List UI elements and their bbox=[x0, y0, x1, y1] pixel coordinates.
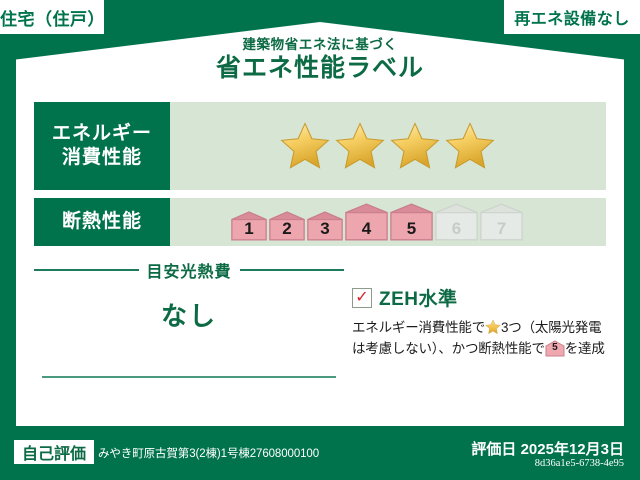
insulation-performance-body: 1234567 bbox=[170, 198, 606, 246]
badge-renewable-energy: 再エネ設備なし bbox=[504, 0, 640, 34]
insulation-grade-3: 3 bbox=[306, 210, 344, 242]
zeh-desc-part1: エネルギー消費性能で bbox=[352, 320, 485, 335]
utility-cost-header: 目安光熱費 bbox=[34, 258, 344, 282]
footer: 自己評価 みやき町原古賀第3(2棟)1号棟27608000100 評価日 202… bbox=[0, 424, 640, 480]
insulation-grade-4: 4 bbox=[344, 202, 389, 242]
zeh-desc-part2: は考慮しない）、かつ断熱性能で bbox=[352, 341, 545, 356]
star-rating bbox=[280, 121, 495, 171]
evaluation-date-label: 評価日 bbox=[471, 441, 516, 458]
zeh-desc-stars: 3つ（太陽光発電 bbox=[501, 320, 601, 335]
insulation-grade-value: 5 bbox=[389, 219, 434, 239]
insulation-grade-value: 7 bbox=[479, 219, 524, 239]
energy-label-poster: 住宅（住戸） 再エネ設備なし 建築物省エネ法に基づく 省エネ性能ラベル エネルギ… bbox=[0, 0, 640, 480]
insulation-performance-row: 断熱性能 1234567 bbox=[34, 198, 606, 246]
energy-label-line2: 消費性能 bbox=[62, 146, 142, 170]
energy-performance-body bbox=[170, 102, 606, 190]
title-subtitle: 建築物省エネ法に基づく bbox=[0, 38, 640, 52]
utility-cost-value: なし bbox=[34, 296, 344, 333]
label-panel: エネルギー 消費性能 断熱性能 1234567 目安光熱費 なし bbox=[16, 88, 624, 424]
zeh-checkbox[interactable]: ✓ bbox=[352, 288, 372, 308]
insulation-grade-value: 3 bbox=[306, 219, 344, 239]
title-block: 建築物省エネ法に基づく 省エネ性能ラベル bbox=[0, 38, 640, 81]
insulation-grade-7: 7 bbox=[479, 202, 524, 242]
insulation-grade-5: 5 bbox=[389, 202, 434, 242]
energy-performance-label: エネルギー 消費性能 bbox=[34, 102, 170, 190]
inline-star-icon bbox=[485, 319, 501, 335]
insulation-grade-value: 4 bbox=[344, 219, 389, 239]
utility-cost-title: 目安光熱費 bbox=[147, 258, 232, 282]
property-address: みやき町原古賀第3(2棟)1号棟27608000100 bbox=[98, 445, 319, 461]
page-title: 省エネ性能ラベル bbox=[0, 55, 640, 81]
zeh-block: ✓ ZEH水準 エネルギー消費性能で3つ（太陽光発電 は考慮しない）、かつ断熱性… bbox=[352, 284, 616, 360]
evaluation-date-value: 2025年12月3日 bbox=[521, 441, 624, 458]
zeh-desc-part3: を達成 bbox=[565, 341, 605, 356]
footer-divider bbox=[16, 424, 624, 426]
cost-rule-left bbox=[34, 269, 139, 271]
star-icon bbox=[390, 121, 440, 171]
evaluation-id: 8d36a1e5-6738-4e95 bbox=[535, 458, 624, 469]
insulation-performance-label: 断熱性能 bbox=[34, 198, 170, 246]
insulation-grade-value: 1 bbox=[230, 219, 268, 239]
zeh-title: ZEH水準 bbox=[379, 284, 458, 311]
cost-rule-right bbox=[240, 269, 345, 271]
insulation-grade-2: 2 bbox=[268, 210, 306, 242]
insulation-grade-6: 6 bbox=[434, 202, 479, 242]
star-icon bbox=[445, 121, 495, 171]
cost-bottom-divider bbox=[42, 376, 336, 378]
energy-performance-row: エネルギー 消費性能 bbox=[34, 102, 606, 190]
star-icon bbox=[280, 121, 330, 171]
star-icon bbox=[335, 121, 385, 171]
energy-label-line1: エネルギー bbox=[52, 122, 152, 146]
insulation-label-text: 断熱性能 bbox=[62, 210, 142, 234]
badge-building-type: 住宅（住戸） bbox=[0, 0, 104, 34]
self-evaluation-badge: 自己評価 bbox=[14, 440, 94, 464]
zeh-header: ✓ ZEH水準 bbox=[352, 284, 616, 311]
inline-house-value: 5 bbox=[545, 340, 565, 357]
inline-house-icon: 5 bbox=[545, 340, 565, 357]
insulation-grade-1: 1 bbox=[230, 210, 268, 242]
insulation-grade-value: 6 bbox=[434, 219, 479, 239]
zeh-description: エネルギー消費性能で3つ（太陽光発電 は考慮しない）、かつ断熱性能で5を達成 bbox=[352, 318, 616, 360]
insulation-grade-gauge: 1234567 bbox=[230, 202, 524, 242]
evaluation-date: 評価日 2025年12月3日 bbox=[471, 438, 624, 459]
insulation-grade-value: 2 bbox=[268, 219, 306, 239]
